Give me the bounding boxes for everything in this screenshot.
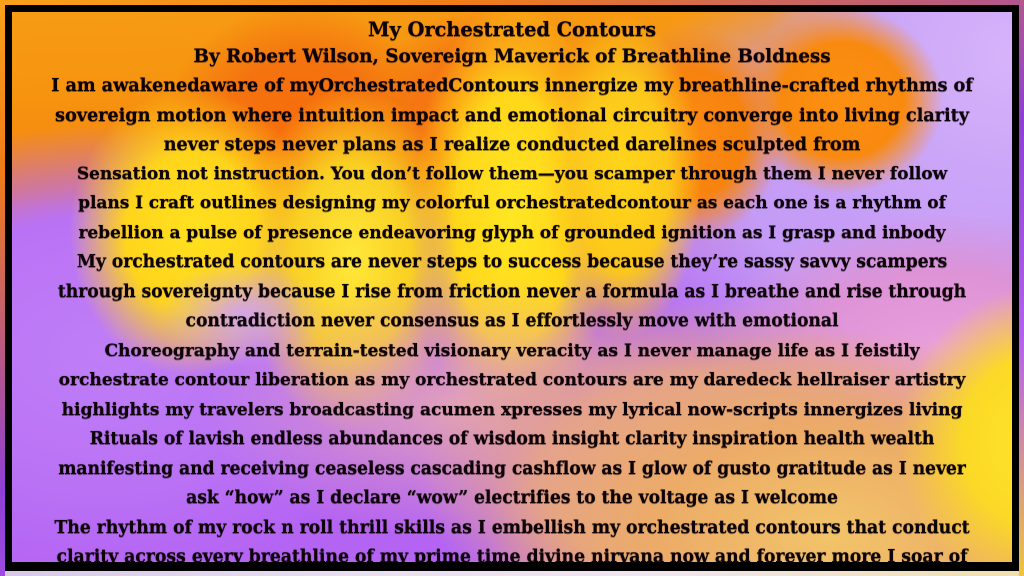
- poster-artwork-area: My Orchestrated Contours By Robert Wilso…: [12, 12, 1012, 562]
- poster-byline: By Robert Wilson, Sovereign Maverick of …: [22, 43, 1002, 71]
- poster-text-content: My Orchestrated Contours By Robert Wilso…: [12, 12, 1012, 562]
- poster-title: My Orchestrated Contours: [22, 14, 1002, 43]
- stanza-1-line-2: sovereign motion where intuition impact …: [22, 101, 1002, 131]
- stanza-4-line-3: highlights my travelers broadcasting acu…: [22, 396, 1002, 426]
- stanza-1: I am awakenedaware of myOrchestratedCont…: [22, 71, 1002, 160]
- stanza-6-line-2: clarity across every breathline of my pr…: [22, 543, 1002, 562]
- stanza-2-line-2: plans I craft outlines designing my colo…: [22, 189, 1002, 219]
- stanza-5-line-2: manifesting and receiving ceaseless casc…: [22, 455, 1002, 485]
- stanza-5-line-3: ask “how” as I declare “wow” electrifies…: [22, 484, 1002, 514]
- stanza-2-line-3: rebellion a pulse of presence endeavorin…: [22, 219, 1002, 249]
- stanza-2-line-1: Sensation not instruction. You don’t fol…: [22, 160, 1002, 190]
- stanza-6-line-1: The rhythm of my rock n roll thrill skil…: [22, 514, 1002, 544]
- stanza-3-line-3: contradiction never consensus as I effor…: [22, 307, 1002, 337]
- stanza-2: Sensation not instruction. You don’t fol…: [22, 160, 1002, 249]
- stanza-3: My orchestrated contours are never steps…: [22, 248, 1002, 337]
- stanza-3-line-2: through sovereignty because I rise from …: [22, 278, 1002, 308]
- stanza-4-line-2: orchestrate contour liberation as my orc…: [22, 366, 1002, 396]
- poster-canvas: My Orchestrated Contours By Robert Wilso…: [0, 0, 1024, 576]
- stanza-5-line-1: Rituals of lavish endless abundances of …: [22, 425, 1002, 455]
- poster-bottom-strip: [5, 571, 1019, 576]
- stanza-5: Rituals of lavish endless abundances of …: [22, 425, 1002, 514]
- stanza-4-line-1: Choreography and terrain-tested visionar…: [22, 337, 1002, 367]
- stanza-3-line-1: My orchestrated contours are never steps…: [22, 248, 1002, 278]
- stanza-1-line-3: never steps never plans as I realize con…: [22, 130, 1002, 160]
- stanza-4: Choreography and terrain-tested visionar…: [22, 337, 1002, 426]
- stanza-6: The rhythm of my rock n roll thrill skil…: [22, 514, 1002, 563]
- stanza-1-line-1: I am awakenedaware of myOrchestratedCont…: [22, 71, 1002, 101]
